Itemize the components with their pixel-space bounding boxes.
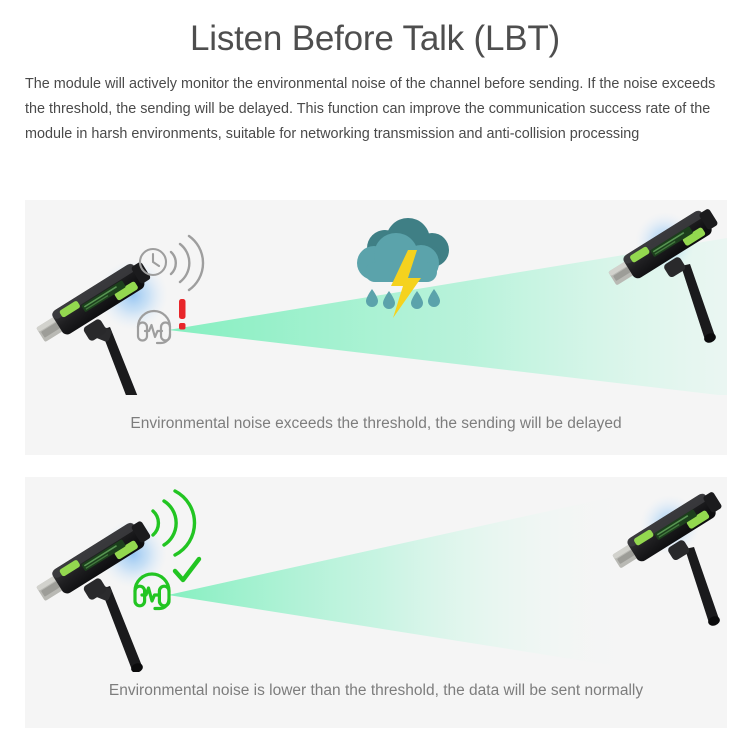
- scene-noise-below: [25, 477, 727, 672]
- transmission-cone: [168, 492, 635, 669]
- scene-noise-exceeds: [25, 200, 727, 395]
- antenna: [685, 547, 721, 627]
- lbt-infographic: Listen Before Talk (LBT) The module will…: [0, 0, 750, 750]
- scene-graphic-2: [25, 477, 727, 672]
- signal-waves-icon: [171, 236, 203, 290]
- page-title: Listen Before Talk (LBT): [0, 0, 750, 60]
- checkmark-icon: [175, 559, 199, 580]
- exclamation-icon: [179, 299, 186, 330]
- panel-noise-below: Environmental noise is lower than the th…: [25, 477, 727, 728]
- scene-graphic-1: [25, 200, 727, 395]
- panel-caption-2: Environmental noise is lower than the th…: [25, 682, 727, 700]
- panel-noise-exceeds: Environmental noise exceeds the threshol…: [25, 200, 727, 455]
- panel-caption-1: Environmental noise exceeds the threshol…: [25, 415, 727, 433]
- storm-cloud-icon: [357, 218, 449, 318]
- intro-paragraph: The module will actively monitor the env…: [25, 72, 725, 147]
